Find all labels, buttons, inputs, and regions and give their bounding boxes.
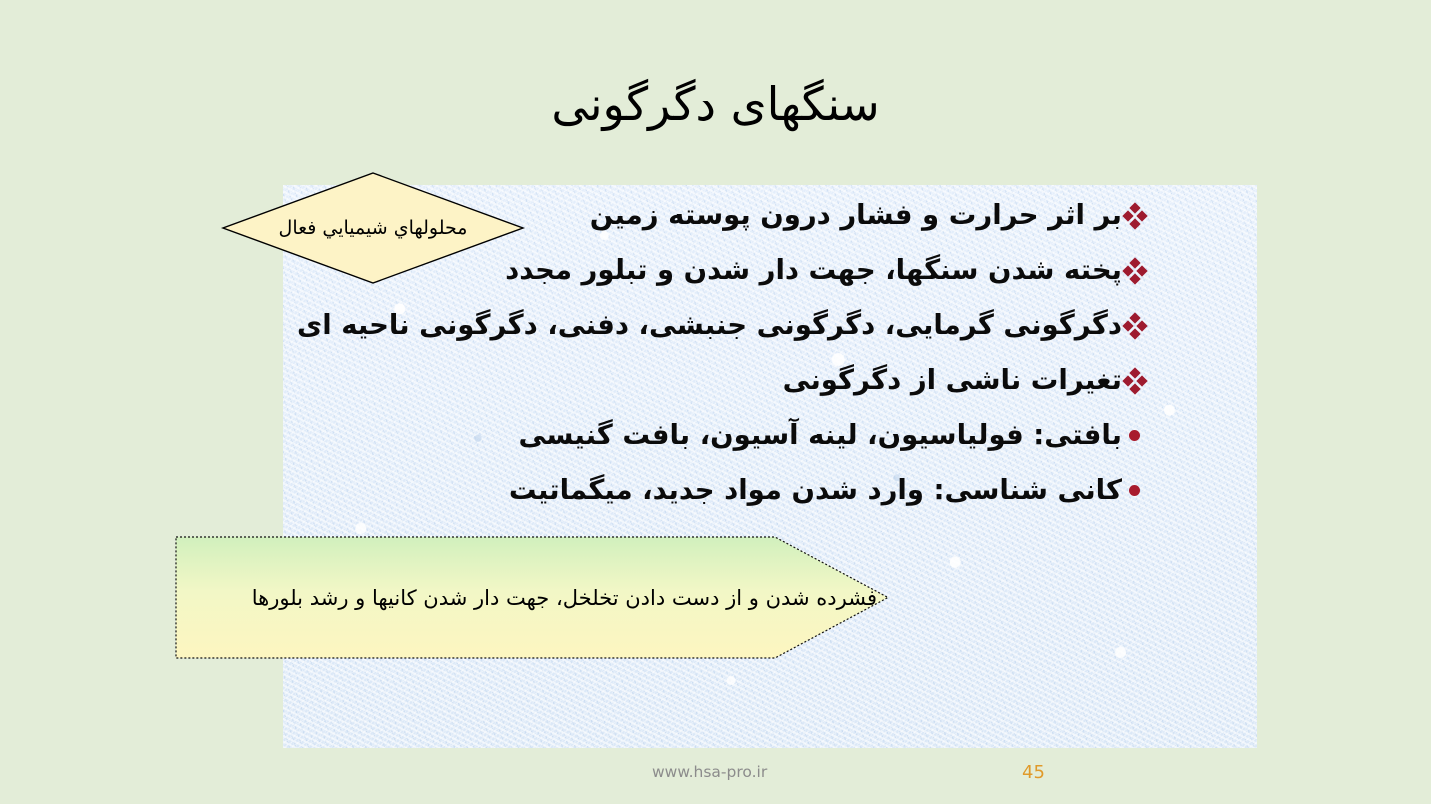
footer-url[interactable]: www.hsa-pro.ir [652,763,767,781]
list-item: کانی شناسی: وارد شدن مواد جدید، میگماتیت [108,465,1148,515]
footer-page-number: 45 [1022,762,1045,783]
slide-canvas: سنگهای دگرگونی بر اثر حرارت و فشار درون … [0,0,1431,804]
list-item-label: تغیرات ناشی از دگرگونی [783,355,1122,405]
round-dot-marker-icon [1122,410,1148,460]
list-item-label: دگرگونی گرمایی، دگرگونی جنبشی، دفنی، دگر… [297,300,1122,350]
list-item-label: بافتی: فولیاسیون، لینه آسیون، بافت گنیسی [519,410,1122,460]
diamond-cluster-marker-icon [1122,355,1148,405]
diamond-cluster-marker-icon [1122,190,1148,240]
list-item: بافتی: فولیاسیون، لینه آسیون، بافت گنیسی [108,410,1148,460]
list-item: تغیرات ناشی از دگرگونی [108,355,1148,405]
list-item: دگرگونی گرمایی، دگرگونی جنبشی، دفنی، دگر… [108,300,1148,350]
page-title: سنگهای دگرگونی [0,78,1431,131]
list-item-label: بر اثر حرارت و فشار درون پوسته زمین [590,190,1122,240]
arrow-callout-shape: فشرده شدن و از دست دادن تخلخل، جهت دار ش… [175,536,889,659]
diamond-callout-label: محلولهاي شيميايي فعال [222,172,524,284]
arrow-callout-label: فشرده شدن و از دست دادن تخلخل، جهت دار ش… [163,536,877,659]
list-item-label: کانی شناسی: وارد شدن مواد جدید، میگماتیت [509,465,1122,515]
diamond-callout-shape: محلولهاي شيميايي فعال [222,172,524,284]
list-item-label: پخته شدن سنگها، جهت دار شدن و تبلور مجدد [505,245,1122,295]
diamond-cluster-marker-icon [1122,245,1148,295]
diamond-cluster-marker-icon [1122,300,1148,350]
round-dot-marker-icon [1122,465,1148,515]
